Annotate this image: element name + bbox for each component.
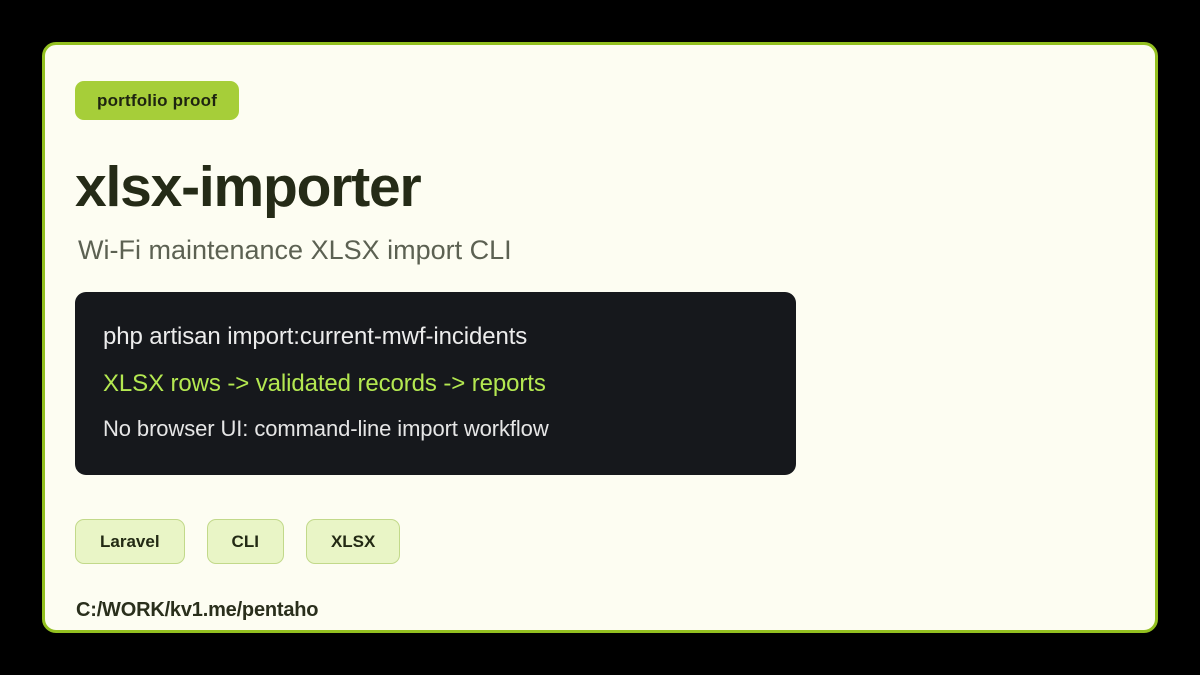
status-badge: portfolio proof	[75, 81, 239, 120]
tag-xlsx: XLSX	[306, 519, 400, 564]
page-background: portfolio proof xlsx-importer Wi-Fi main…	[0, 0, 1200, 675]
code-block: php artisan import:current-mwf-incidents…	[75, 292, 796, 474]
tag-laravel: Laravel	[75, 519, 185, 564]
tag-cli: CLI	[207, 519, 284, 564]
page-subtitle: Wi-Fi maintenance XLSX import CLI	[78, 234, 1123, 266]
page-title: xlsx-importer	[75, 158, 1123, 218]
footer-path: C:/WORK/kv1.me/pentaho	[76, 599, 1123, 622]
project-card: portfolio proof xlsx-importer Wi-Fi main…	[42, 42, 1158, 633]
code-line-command: php artisan import:current-mwf-incidents	[103, 314, 768, 361]
tag-list: Laravel CLI XLSX	[75, 519, 1123, 564]
code-line-note: No browser UI: command-line import workf…	[103, 408, 768, 451]
code-line-pipeline: XLSX rows -> validated records -> report…	[103, 361, 768, 408]
